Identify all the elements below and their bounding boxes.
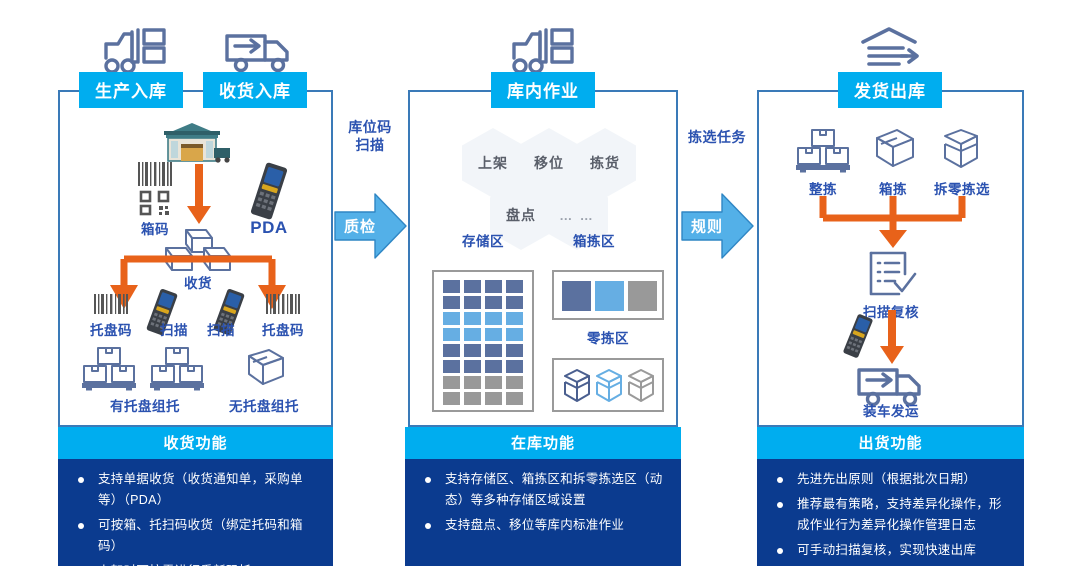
storage-cell (485, 312, 502, 325)
storage-cell (506, 328, 523, 341)
piece-pick-boxes (560, 366, 658, 406)
storage-cell (464, 344, 481, 357)
forklift-icon (100, 22, 168, 78)
pallet-barcode-right-icon (266, 294, 300, 314)
list-item: 上架时可按需进行重新码托 (72, 561, 319, 582)
storage-grid (443, 280, 527, 406)
arrow-down-to-shipping (879, 310, 905, 366)
caption-pda: PDA (250, 218, 287, 238)
storage-cell (443, 392, 460, 405)
storage-cell (443, 360, 460, 373)
arrow-merge-to-check (812, 194, 974, 248)
badge-production-inbound[interactable]: 生产入库 (79, 72, 183, 108)
scan-check-icon (865, 250, 919, 298)
outbound-footer-body: 先进先出原则（根据批次日期） 推荐最有策略，支持差异化操作，形成作业行为差异化操… (757, 459, 1024, 566)
caption-loading-ship: 装车发运 (863, 400, 919, 420)
list-item: 先进先出原则（根据批次日期） (771, 469, 1010, 490)
caption-pallet-code-left: 托盘码 (90, 319, 132, 339)
arrow-down-to-receiving (186, 164, 212, 226)
case-pick-icon (867, 126, 919, 172)
list-item: 支持存储区、箱拣区和拆零拣选区（动态）等多种存储区域设置 (419, 469, 667, 511)
storage-cell (464, 296, 481, 309)
connector-2-label-line1: 拣选任务 (688, 128, 746, 146)
storage-cell (464, 280, 481, 293)
storage-cell (506, 376, 523, 389)
storage-cell (485, 328, 502, 341)
palletized-stack-1-icon (80, 344, 138, 390)
storage-cell (506, 296, 523, 309)
zone-title-storage: 存储区 (462, 230, 504, 250)
caption-with-pallet: 有托盘组托 (110, 395, 180, 415)
connector-1-arrow-text: 质检 (333, 216, 387, 237)
inbound-footer-title: 收货功能 (58, 427, 333, 459)
caption-scan-right: 扫描 (207, 319, 235, 339)
connector-1-label-line2: 扫描 (348, 136, 392, 154)
case-pick-swatch (562, 281, 591, 311)
palletized-stack-2-icon (148, 344, 206, 390)
caption-pallet-code-right: 托盘码 (262, 319, 304, 339)
badge-receiving-inbound[interactable]: 收货入库 (203, 72, 307, 108)
storage-cell (506, 344, 523, 357)
storage-cell (443, 344, 460, 357)
storage-cell (464, 360, 481, 373)
inbound-footer: 收货功能 支持单据收货（收货通知单，采购单等）（PDA） 可按箱、托扫码收货（绑… (58, 427, 333, 566)
storage-cell (485, 296, 502, 309)
connector-1-label-line1: 库位码 (348, 118, 392, 136)
pda-handheld-icon (841, 312, 875, 360)
storage-cell (443, 280, 460, 293)
zone-title-piece-pick: 零拣区 (587, 327, 629, 347)
storage-zone-box (432, 270, 534, 412)
in-warehouse-footer: 在库功能 支持存储区、箱拣区和拆零拣选区（动态）等多种存储区域设置 支持盘点、移… (405, 427, 681, 566)
storage-cell (464, 392, 481, 405)
pda-icon (248, 162, 290, 220)
list-item: 支持盘点、移位等库内标准作业 (419, 515, 667, 536)
storage-cell (485, 376, 502, 389)
storage-cell (464, 312, 481, 325)
stage-in-warehouse: 库内作业 上架 移位 拣货 盘点 … … 存储区 箱拣区 零拣区 (408, 22, 678, 542)
storage-cell (485, 360, 502, 373)
delivery-truck-icon (221, 26, 297, 76)
storage-cell (443, 296, 460, 309)
list-item: 可手动扫描复核，实现快速出库 (771, 540, 1010, 561)
zone-title-case-pick: 箱拣区 (573, 230, 615, 250)
storage-cell (506, 312, 523, 325)
storage-cell (485, 280, 502, 293)
in-warehouse-footer-title: 在库功能 (405, 427, 681, 459)
storage-cell (464, 376, 481, 389)
warehouse-icon (162, 120, 232, 164)
storage-cell (506, 280, 523, 293)
badge-in-warehouse-ops[interactable]: 库内作业 (491, 72, 595, 108)
storage-cell (443, 376, 460, 389)
connector-inwarehouse-to-outbound: 拣选任务 规则 (680, 110, 755, 270)
in-warehouse-footer-body: 支持存储区、箱拣区和拆零拣选区（动态）等多种存储区域设置 支持盘点、移位等库内标… (405, 459, 681, 566)
pallet-barcode-left-icon (94, 294, 128, 314)
connector-2-label: 拣选任务 (688, 128, 746, 146)
caption-scan-left: 扫描 (160, 319, 188, 339)
inbound-footer-body: 支持单据收货（收货通知单，采购单等）（PDA） 可按箱、托扫码收货（绑定托码和箱… (58, 459, 333, 566)
case-pick-zone-box (552, 270, 664, 320)
list-item: 支持单据收货（收货通知单，采购单等）（PDA） (72, 469, 319, 511)
connector-2-arrow: 规则 (680, 190, 755, 262)
storage-cell (506, 392, 523, 405)
badge-shipping-outbound[interactable]: 发货出库 (838, 72, 942, 108)
carton-qr-icon (139, 190, 171, 216)
operation-hexagons: 上架 移位 拣货 盘点 … … (462, 122, 652, 232)
list-item: 可按箱、托扫码收货（绑定托码和箱码） (72, 515, 319, 557)
storage-cell (443, 328, 460, 341)
case-pick-swatches (562, 281, 658, 311)
case-pick-swatch (595, 281, 624, 311)
connector-2-arrow-text: 规则 (680, 216, 734, 237)
outbound-footer: 出货功能 先进先出原则（根据批次日期） 推荐最有策略，支持差异化操作，形成作业行… (757, 427, 1024, 566)
stage-outbound: 发货出库 整拣 (757, 22, 1024, 542)
storage-cell (485, 344, 502, 357)
storage-cell (443, 312, 460, 325)
connector-1-arrow: 质检 (333, 190, 408, 262)
full-pallet-pick-icon (794, 126, 852, 172)
diagram-canvas: 生产入库 收货入库 (0, 0, 1080, 570)
connector-inbound-to-inwarehouse: 库位码 扫描 质检 (333, 110, 408, 270)
storage-cell (485, 392, 502, 405)
stage-inbound: 生产入库 收货入库 (58, 22, 333, 542)
storage-cell (506, 360, 523, 373)
case-pick-swatch (628, 281, 657, 311)
connector-1-label: 库位码 扫描 (348, 118, 392, 154)
storage-cell (464, 328, 481, 341)
piece-pick-zone-box (552, 358, 664, 412)
piece-pick-icon (935, 128, 989, 172)
forklift-icon (508, 22, 576, 78)
list-item: 推荐最有策略，支持差异化操作，形成作业行为差异化操作管理日志 (771, 494, 1010, 536)
carton-barcode-icon (138, 162, 172, 186)
warehouse-exit-icon (859, 26, 925, 76)
caption-without-pallet: 无托盘组托 (229, 395, 299, 415)
outbound-footer-title: 出货功能 (757, 427, 1024, 459)
single-box-icon (239, 346, 287, 390)
